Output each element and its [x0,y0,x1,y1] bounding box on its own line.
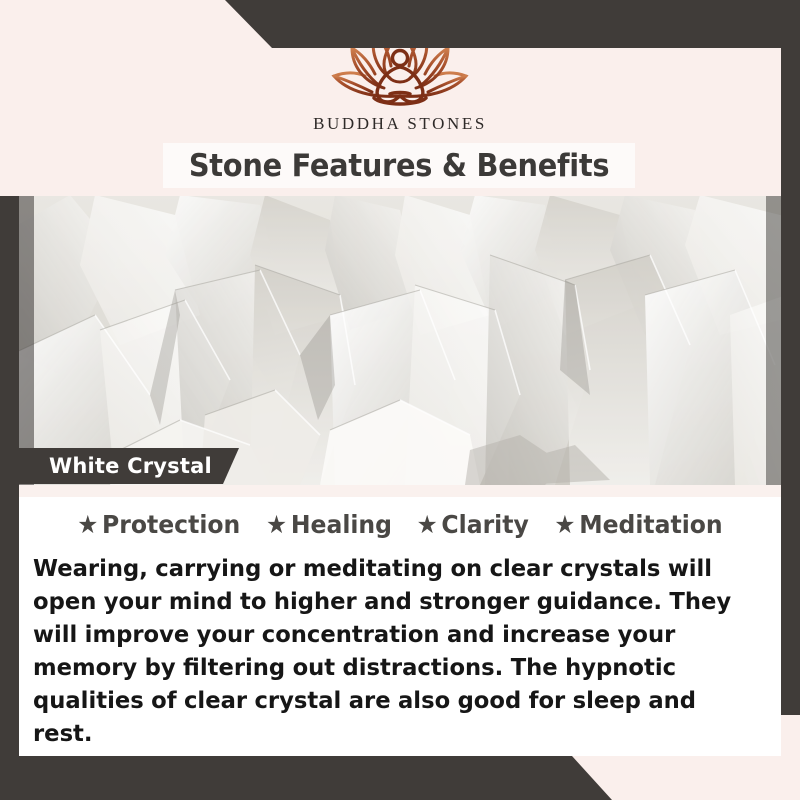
benefit-label: Clarity [441,510,528,539]
benefit-label: Healing [291,510,392,539]
benefit-item: ★Protection [78,510,241,539]
benefit-label: Meditation [579,510,722,539]
star-icon: ★ [416,510,437,539]
benefit-label: Protection [102,510,240,539]
frame-left-band [0,196,19,758]
benefit-item: ★Meditation [554,510,722,539]
brand-name: BUDDHA STONES [0,114,800,134]
content-section: ★Protection ★Healing ★Clarity ★Meditatio… [19,485,781,756]
page-title: Stone Features & Benefits [163,143,635,188]
stone-info-card: BUDDHA STONES Stone Features & Benefits [0,0,800,800]
stone-name-text: White Crystal [19,454,212,478]
stone-description: Wearing, carrying or meditating on clear… [33,552,747,750]
star-icon: ★ [266,510,287,539]
benefits-list: ★Protection ★Healing ★Clarity ★Meditatio… [19,510,781,539]
benefit-item: ★Healing [266,510,392,539]
star-icon: ★ [554,510,575,539]
star-icon: ★ [78,510,99,539]
page-title-text: Stone Features & Benefits [189,148,609,184]
crystal-photo [0,195,800,485]
frame-right-band [781,0,800,715]
content-top-strip [19,485,781,497]
stone-name-badge: White Crystal [19,448,239,484]
benefit-item: ★Clarity [416,510,528,539]
frame-bottom-band [0,756,800,800]
